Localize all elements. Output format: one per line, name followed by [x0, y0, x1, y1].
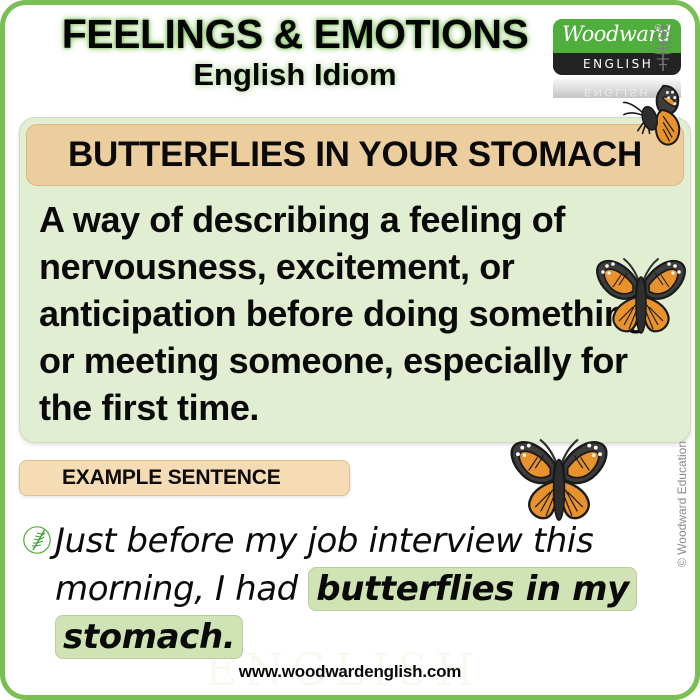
fern-leaf-icon: [643, 21, 677, 73]
example-sentence-label: EXAMPLE SENTENCE: [62, 466, 281, 490]
idiom-title-bar: BUTTERFLIES IN YOUR STOMACH: [26, 124, 684, 186]
example-sentence-block: Just before my job interview this mornin…: [19, 517, 679, 661]
header: FEELINGS & EMOTIONS English Idiom Woodwa…: [5, 5, 695, 109]
idiom-definition: A way of describing a feeling of nervous…: [39, 196, 675, 431]
idiom-poster: FEELINGS & EMOTIONS English Idiom Woodwa…: [0, 0, 700, 700]
sentence-highlight-1: butterflies in my: [308, 567, 637, 611]
example-sentence-text: Just before my job interview this mornin…: [19, 517, 679, 661]
sentence-highlight-2: stomach.: [55, 615, 243, 659]
idiom-card: BUTTERFLIES IN YOUR STOMACH A way of des…: [19, 117, 691, 443]
copyright-notice: © Woodward Education: [675, 441, 689, 567]
example-sentence-badge: EXAMPLE SENTENCE: [19, 460, 350, 496]
logo-reflection: ENGLISH: [553, 76, 681, 98]
idiom-title: BUTTERFLIES IN YOUR STOMACH: [68, 135, 642, 175]
footer-website[interactable]: www.woodwardenglish.com: [5, 662, 695, 682]
woodward-english-logo[interactable]: Woodward ® ENGLISH ENGLISH: [553, 19, 681, 75]
fern-leaf-bullet-icon: [22, 525, 52, 555]
